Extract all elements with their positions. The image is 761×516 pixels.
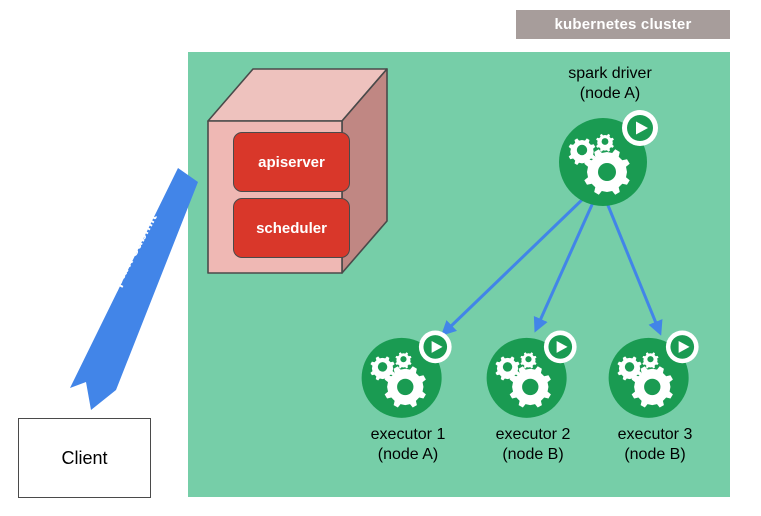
- pod-scheduler-label: scheduler: [256, 220, 327, 237]
- play-icon: [622, 110, 658, 146]
- pod-apiserver[interactable]: apiserver: [233, 132, 350, 192]
- pod-scheduler[interactable]: scheduler: [233, 198, 350, 258]
- kubernetes-cluster-label: kubernetes cluster: [516, 10, 730, 39]
- control-plane-cube: apiserver scheduler: [205, 66, 390, 281]
- diagram-canvas: kubernetes cluster Client spark-submit a…: [0, 0, 761, 516]
- node-executor-3-caption: executor 3 (node B): [575, 425, 735, 465]
- node-executor-2[interactable]: [483, 330, 583, 422]
- client-box[interactable]: Client: [18, 418, 151, 498]
- node-executor-1[interactable]: [358, 330, 458, 422]
- play-icon: [666, 331, 699, 364]
- gears-icon: [483, 330, 583, 422]
- node-driver[interactable]: [555, 110, 665, 210]
- gears-icon: [555, 110, 665, 210]
- node-driver-subtitle: (node A): [520, 84, 700, 104]
- play-icon: [419, 331, 452, 364]
- node-executor-3-title: executor 3: [575, 425, 735, 445]
- gears-icon: [358, 330, 458, 422]
- node-executor-3-subtitle: (node B): [575, 445, 735, 465]
- spark-submit-arrow: [58, 160, 218, 410]
- play-icon: [544, 331, 577, 364]
- kubernetes-cluster-label-text: kubernetes cluster: [555, 16, 692, 33]
- gears-icon: [605, 330, 705, 422]
- node-executor-3[interactable]: [605, 330, 705, 422]
- client-label: Client: [61, 448, 107, 469]
- node-driver-title: spark driver: [520, 64, 700, 84]
- node-driver-caption: spark driver (node A): [520, 64, 700, 104]
- block-arrow-icon: [58, 160, 218, 410]
- pod-apiserver-label: apiserver: [258, 154, 325, 171]
